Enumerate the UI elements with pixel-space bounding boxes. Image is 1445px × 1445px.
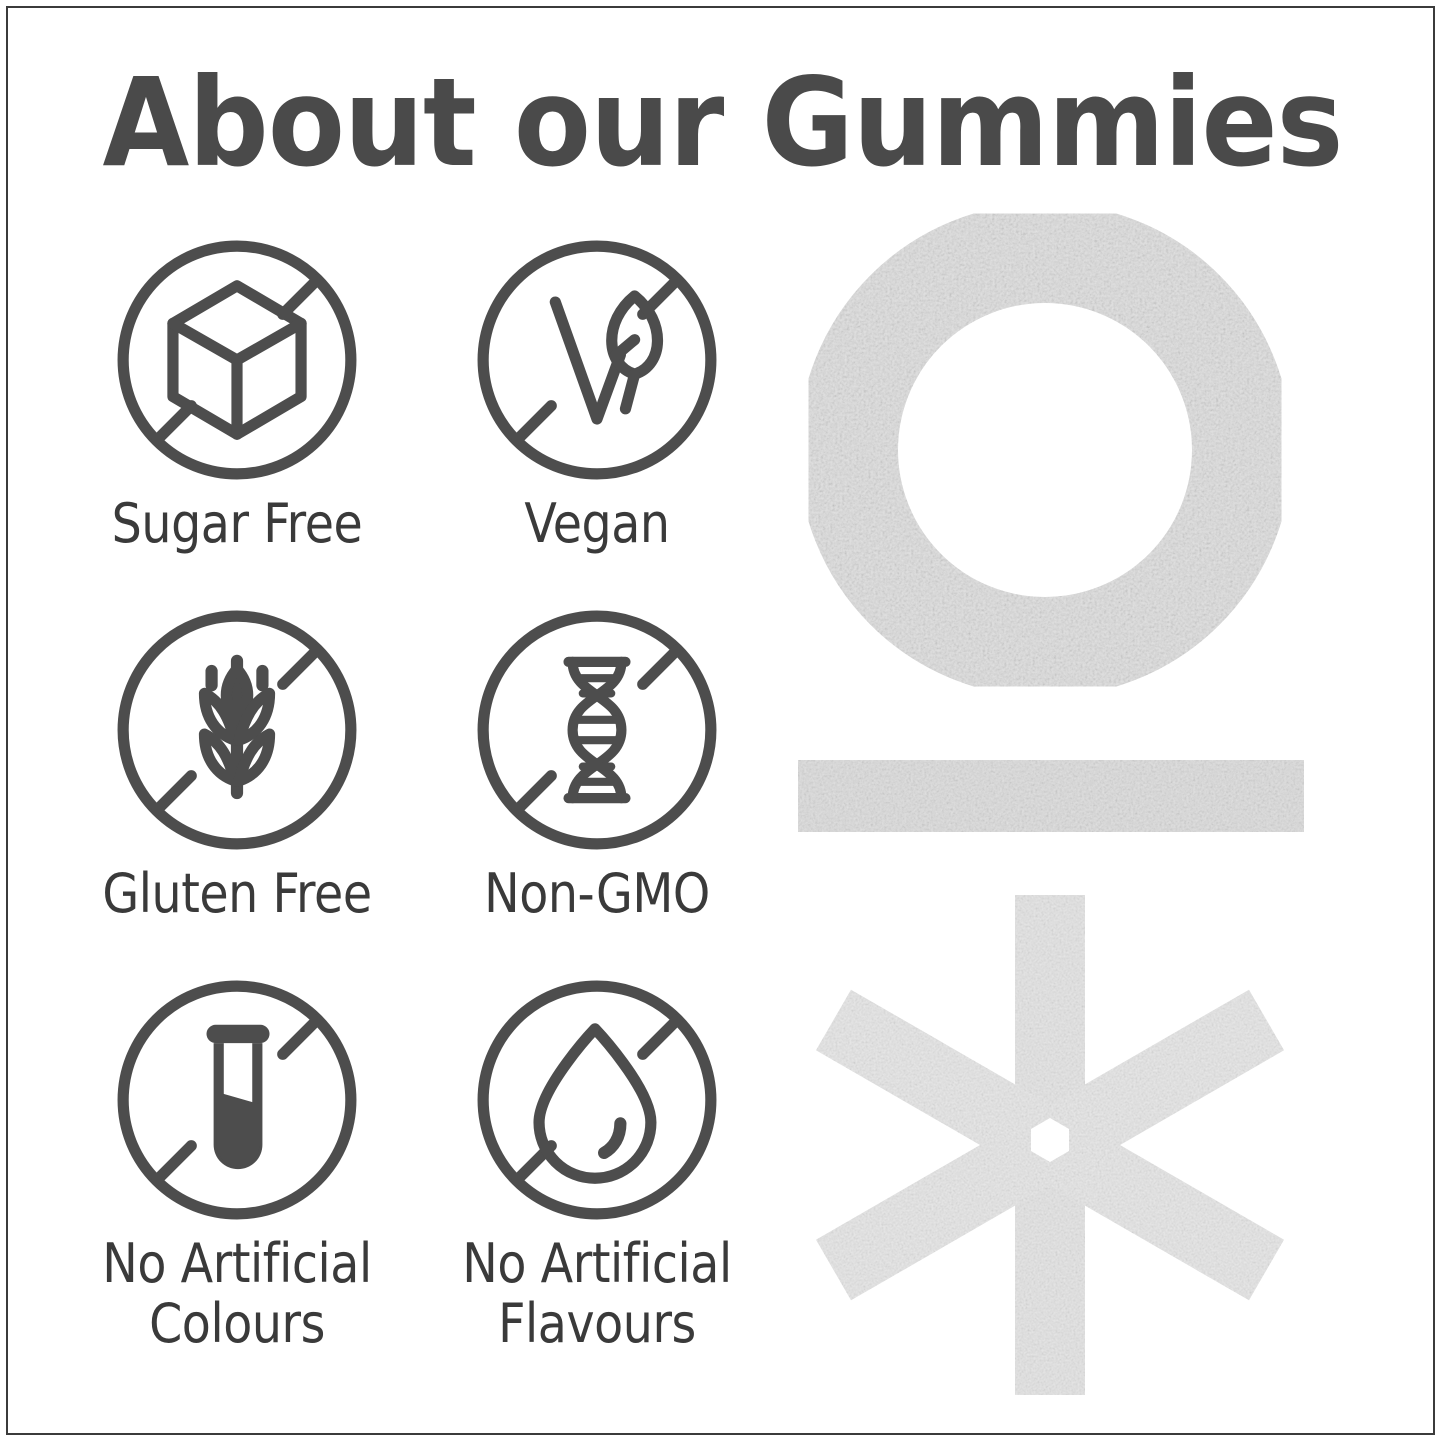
feature-badge-grid: Sugar Free Vegan: [72, 238, 772, 1398]
badge-gluten-free[interactable]: Gluten Free: [72, 608, 402, 924]
ring-shape: [795, 200, 1295, 700]
bar-shape: [798, 760, 1304, 832]
badge-no-artificial-colours[interactable]: No Artificial Colours: [72, 978, 402, 1355]
badge-label: Vegan: [452, 494, 742, 554]
badge-label: Gluten Free: [92, 864, 382, 924]
no-dna-helix-icon: [475, 608, 719, 852]
no-wheat-icon: [115, 608, 359, 852]
product-info-panel: About our Gummies: [0, 0, 1445, 1445]
no-sugar-cube-icon: [115, 238, 359, 482]
badge-label: No Artificial Flavours: [452, 1234, 742, 1355]
no-vegan-leaf-v-icon: [475, 238, 719, 482]
no-test-tube-icon: [115, 978, 359, 1222]
badge-non-gmo[interactable]: Non-GMO: [432, 608, 762, 924]
badge-no-artificial-flavours[interactable]: No Artificial Flavours: [432, 978, 762, 1355]
badge-label: Sugar Free: [92, 494, 382, 554]
badge-vegan[interactable]: Vegan: [432, 238, 762, 554]
asterisk-shape: [800, 890, 1300, 1400]
page-title: About our Gummies: [58, 62, 1387, 184]
no-water-droplet-icon: [475, 978, 719, 1222]
badge-label: Non-GMO: [452, 864, 742, 924]
badge-label: No Artificial Colours: [92, 1234, 382, 1355]
badge-sugar-free[interactable]: Sugar Free: [72, 238, 402, 554]
